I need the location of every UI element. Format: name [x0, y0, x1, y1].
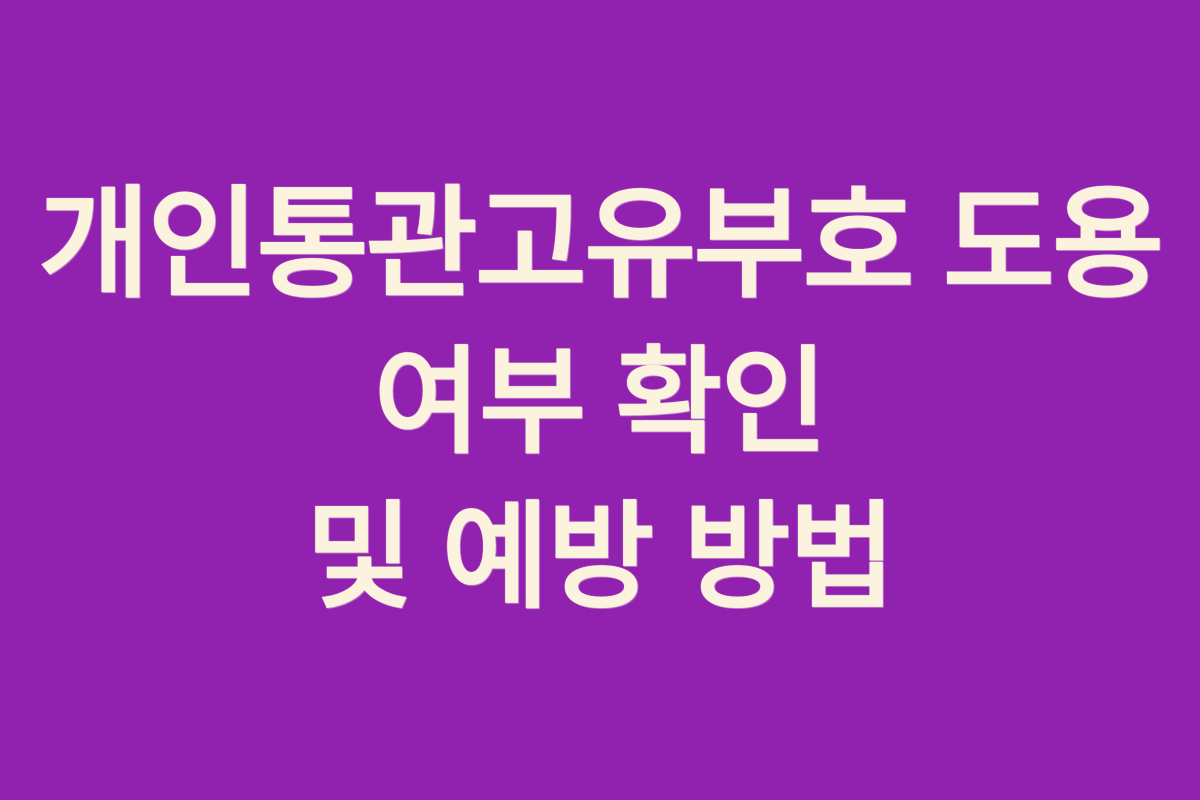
thumbnail-card: 개인통관고유부호 도용 여부 확인 및 예방 방법 [0, 0, 1200, 800]
headline-line-3: 및 예방 방법 [306, 480, 894, 635]
headline-block: 개인통관고유부호 도용 여부 확인 및 예방 방법 [0, 163, 1200, 636]
headline-line-1: 개인통관고유부호 도용 [38, 163, 1161, 325]
headline-line-2: 여부 확인 [374, 325, 826, 480]
